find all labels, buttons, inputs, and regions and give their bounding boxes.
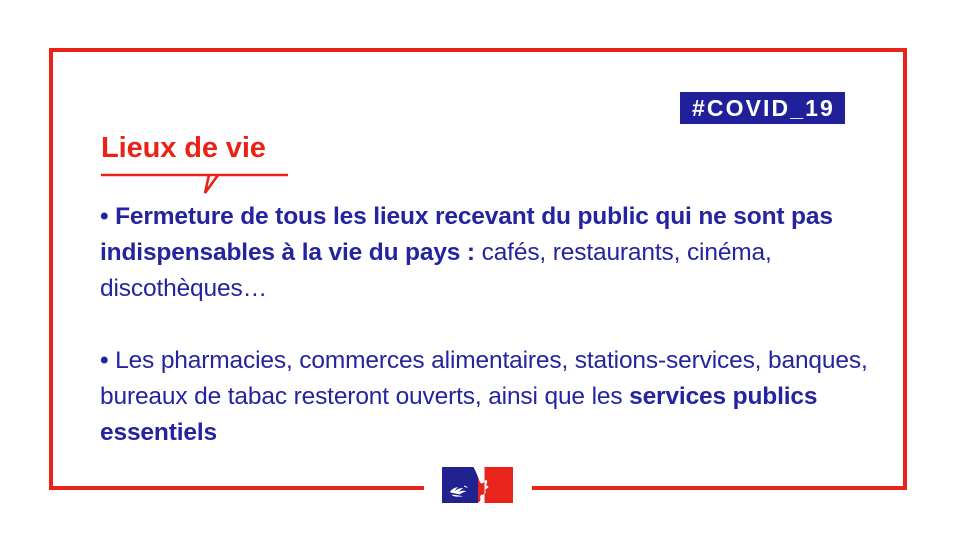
speech-bubble-rule-icon — [101, 173, 288, 195]
body-copy: • Fermeture de tous les lieux recevant d… — [100, 199, 890, 451]
poster-canvas: #COVID_19 Lieux de vie • Fermeture de to… — [0, 0, 958, 539]
bullet-item-1: • Fermeture de tous les lieux recevant d… — [100, 199, 890, 307]
title-block: Lieux de vie — [101, 133, 401, 195]
covid-hashtag-badge: #COVID_19 — [680, 92, 845, 124]
title-underline-speech-tail — [101, 173, 288, 195]
republique-francaise-marianne-icon — [442, 467, 513, 503]
bullet-marker-1: • — [100, 203, 108, 230]
bullet-marker-2: • — [100, 347, 108, 374]
bullet-item-2: • Les pharmacies, commerces alimentaires… — [100, 343, 890, 451]
marianne-logo — [442, 467, 513, 503]
page-title: Lieux de vie — [101, 133, 401, 163]
